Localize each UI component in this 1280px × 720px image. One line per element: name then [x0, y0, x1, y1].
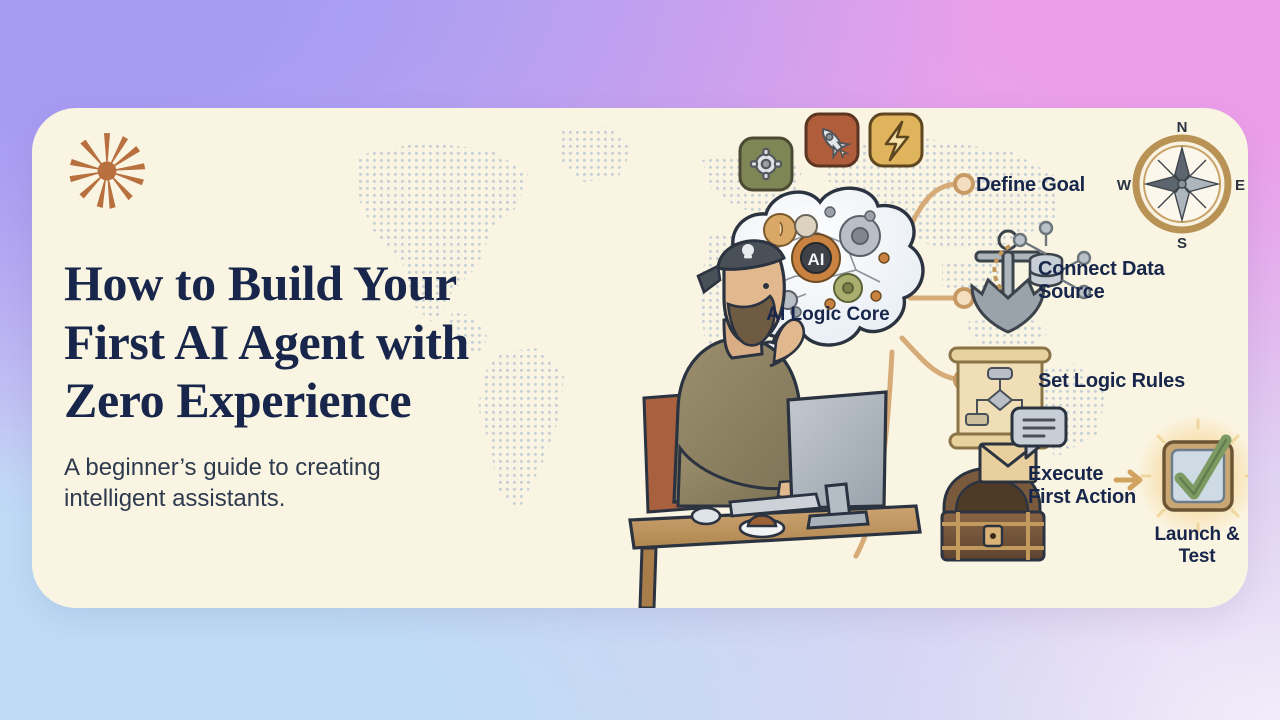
subtitle-line-1: A beginner’s guide to creating — [64, 452, 664, 484]
step-label-define-goal: Define Goal — [976, 174, 1085, 197]
svg-text:N: N — [1177, 119, 1188, 136]
content-card: How to Build Your First AI Agent with Ze… — [32, 108, 1248, 608]
compass-icon — [1136, 138, 1228, 230]
svg-text:S: S — [1177, 235, 1187, 252]
headline-column: How to Build Your First AI Agent with Ze… — [64, 128, 664, 515]
app-tile-rocket — [806, 114, 858, 166]
svg-text:E: E — [1235, 177, 1245, 194]
page-title: How to Build Your First AI Agent with Ze… — [64, 254, 664, 430]
app-tile-lightning — [870, 114, 922, 166]
svg-text:AI: AI — [808, 250, 825, 269]
step-label-set-logic-rules: Set Logic Rules — [1038, 370, 1185, 393]
headline-line-3: Zero Experience — [64, 371, 664, 430]
svg-text:W: W — [1117, 177, 1132, 194]
step-label-execute-first-action: Execute First Action — [1028, 463, 1158, 509]
subtitle-line-2: intelligent assistants. — [64, 483, 664, 515]
page-subtitle: A beginner’s guide to creating intellige… — [64, 452, 664, 516]
app-tile-gear — [740, 138, 792, 190]
headline-line-2: First AI Agent with — [64, 313, 664, 372]
agent-workflow-illustration: AI — [620, 108, 1248, 608]
step-label-launch-and-test: Launch & Test — [1142, 524, 1248, 568]
starburst-asterisk-icon — [64, 128, 150, 214]
step-label-connect-data-source: Connect Data Source — [1038, 258, 1198, 304]
thought-bubble-caption: AI Logic Core — [738, 304, 918, 326]
headline-line-1: How to Build Your — [64, 254, 664, 313]
